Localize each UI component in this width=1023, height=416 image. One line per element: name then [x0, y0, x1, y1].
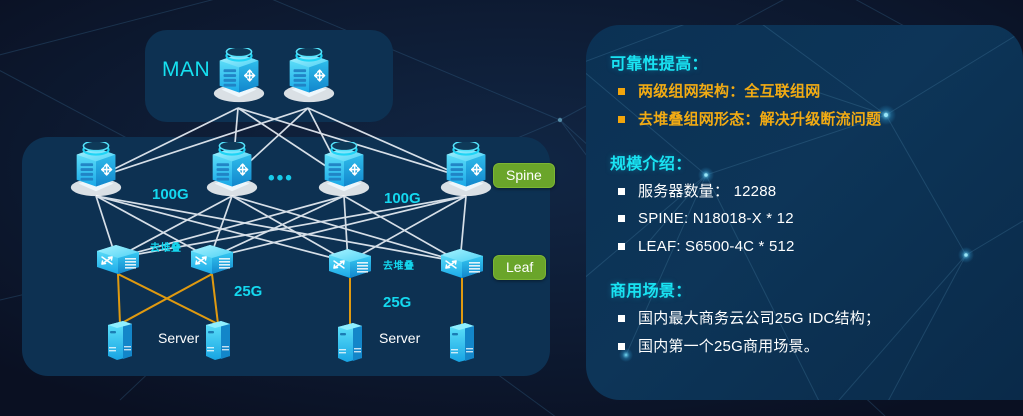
label-destack-left: 去堆叠 [150, 239, 182, 254]
section-heading: 商用场景： [610, 277, 1023, 301]
label-server-right: Server [379, 330, 420, 346]
label-server-left: Server [158, 330, 199, 346]
list-item: 两级组网架构：全互联组网 [610, 81, 1023, 104]
list-item-label: SPINE: N18018-X * 12 [638, 208, 794, 231]
bullet-square-icon [618, 315, 625, 322]
list-item: SPINE: N18018-X * 12 [610, 208, 1023, 231]
label-downlink-25g-left: 25G [234, 283, 262, 300]
label-uplink-100g-right: 100G [384, 190, 421, 207]
server-icon [338, 323, 362, 362]
bullet-list: 两级组网架构：全互联组网 去堆叠组网形态：解决升级断流问题 [610, 81, 1023, 132]
man-label: MAN [162, 58, 210, 82]
bullet-square-icon [618, 188, 625, 195]
bullet-square-icon [618, 343, 625, 350]
spine-switch-icon [207, 141, 257, 196]
list-item-label: 国内第一个25G商用场景。 [638, 336, 819, 359]
bullet-square-icon [618, 243, 625, 250]
router-icon [214, 47, 264, 102]
list-item-label: 两级组网架构：全互联组网 [638, 81, 820, 104]
router-icon [284, 47, 334, 102]
server-icon [450, 323, 474, 362]
bullet-square-icon [618, 116, 625, 123]
spacer [610, 264, 1023, 277]
label-downlink-25g-right: 25G [383, 294, 411, 311]
spacer [610, 137, 1023, 150]
list-item: 去堆叠组网形态：解决升级断流问题 [610, 109, 1023, 132]
list-item-label: 服务器数量： 12288 [638, 181, 776, 204]
info-content: 可靠性提高： 两级组网架构：全互联组网 去堆叠组网形态：解决升级断流问题 规模介… [586, 25, 1023, 359]
bullet-list: 国内最大商务云公司25G IDC结构； 国内第一个25G商用场景。 [610, 308, 1023, 359]
list-item: 服务器数量： 12288 [610, 181, 1023, 204]
badge-spine: Spine [493, 163, 555, 188]
badge-leaf: Leaf [493, 255, 546, 280]
spine-switch-icon [319, 141, 369, 196]
label-uplink-100g-left: 100G [152, 186, 189, 203]
list-item: 国内最大商务云公司25G IDC结构； [610, 308, 1023, 331]
man-router-group [214, 47, 334, 102]
section-reliability: 可靠性提高： 两级组网架构：全互联组网 去堆叠组网形态：解决升级断流问题 [610, 50, 1023, 132]
bullet-square-icon [618, 88, 625, 95]
server-icon [206, 321, 230, 360]
section-scale: 规模介绍： 服务器数量： 12288 SPINE: N18018-X * 12 … [610, 150, 1023, 259]
spine-switch-icon [71, 141, 121, 196]
section-commercial: 商用场景： 国内最大商务云公司25G IDC结构； 国内第一个25G商用场景。 [610, 277, 1023, 359]
list-item: 国内第一个25G商用场景。 [610, 336, 1023, 359]
section-heading: 可靠性提高： [610, 50, 1023, 74]
list-item-label: 国内最大商务云公司25G IDC结构； [638, 308, 880, 331]
bullet-list: 服务器数量： 12288 SPINE: N18018-X * 12 LEAF: … [610, 181, 1023, 259]
network-topology-diagram [0, 0, 600, 416]
server-icon [108, 321, 132, 360]
leaf-switch-icon [441, 249, 483, 278]
list-item-label: LEAF: S6500-4C * 512 [638, 236, 795, 259]
spine-switch-icon [441, 141, 491, 196]
info-panel: 可靠性提高： 两级组网架构：全互联组网 去堆叠组网形态：解决升级断流问题 规模介… [586, 25, 1023, 400]
list-item: LEAF: S6500-4C * 512 [610, 236, 1023, 259]
bullet-square-icon [618, 215, 625, 222]
spine-ellipsis: ••• [268, 168, 294, 190]
section-heading: 规模介绍： [610, 150, 1023, 174]
label-destack-right: 去堆叠 [383, 257, 415, 272]
list-item-label: 去堆叠组网形态：解决升级断流问题 [638, 109, 881, 132]
